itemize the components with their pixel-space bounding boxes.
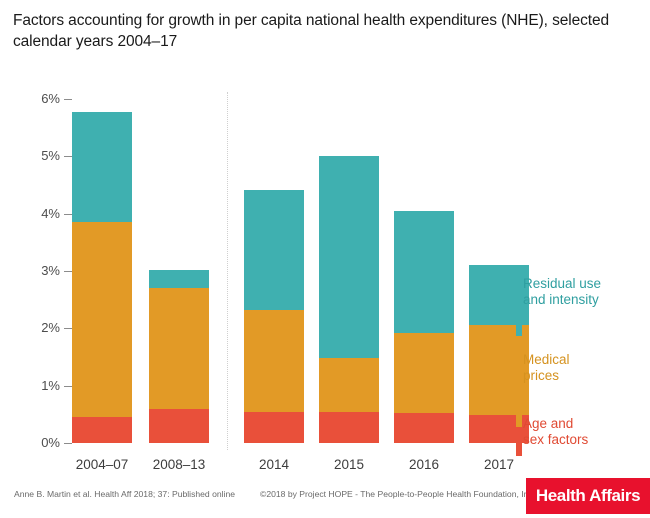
legend-color-swatch (516, 337, 522, 427)
y-axis-tick-label: 2% (14, 321, 60, 334)
bar-segment[interactable] (244, 310, 304, 412)
legend-color-ribbon (516, 0, 522, 478)
legend-label-residual-line1: Residual use (523, 276, 601, 292)
bar-segment[interactable] (319, 156, 379, 358)
bar-stack (244, 99, 304, 443)
period-separator (227, 92, 228, 450)
legend-color-swatch (516, 428, 522, 456)
health-affairs-logo[interactable]: Health Affairs (526, 478, 650, 514)
y-axis-tick-label: 0% (14, 436, 60, 449)
bar-segment[interactable] (72, 222, 132, 416)
bar-segment[interactable] (72, 112, 132, 223)
bar-segment[interactable] (149, 270, 209, 288)
y-axis-tick-mark (64, 443, 72, 444)
bar-segment[interactable] (394, 333, 454, 413)
bar-column[interactable] (244, 99, 304, 443)
bar-stack (72, 99, 132, 443)
bar-segment[interactable] (72, 417, 132, 443)
x-axis-tick-label: 2004–07 (58, 457, 146, 472)
y-axis-tick-mark (64, 328, 72, 329)
y-axis-tick-label: 6% (14, 92, 60, 105)
health-affairs-logo-text: Health Affairs (526, 478, 650, 514)
y-axis-tick-label: 3% (14, 264, 60, 277)
bar-segment[interactable] (244, 412, 304, 443)
bar-segment[interactable] (394, 211, 454, 333)
chart-plot-area: 0%1%2%3%4%5%6% 2004–072008–1320142015201… (0, 0, 650, 478)
footer-copyright: ©2018 by Project HOPE - The People-to-Pe… (260, 489, 535, 499)
y-axis-tick-mark (64, 271, 72, 272)
legend-label-medical-line2: prices (523, 368, 570, 384)
legend-label-age-line2: sex factors (523, 432, 588, 448)
legend-label-residual-line2: and intensity (523, 292, 601, 308)
x-axis-tick-label: 2008–13 (135, 457, 223, 472)
y-axis-tick-mark (64, 214, 72, 215)
bar-column[interactable] (319, 99, 379, 443)
legend-color-swatch (516, 276, 522, 336)
legend-label-medical-line1: Medical (523, 352, 570, 368)
bar-segment[interactable] (319, 358, 379, 412)
footer-citation: Anne B. Martin et al. Health Aff 2018; 3… (14, 489, 235, 499)
bar-segment[interactable] (244, 190, 304, 310)
legend-item-age-and-sex-factors: Age and sex factors (523, 416, 588, 448)
y-axis-tick-mark (64, 386, 72, 387)
bar-column[interactable] (394, 99, 454, 443)
y-axis-tick-mark (64, 156, 72, 157)
legend-label-age-line1: Age and (523, 416, 588, 432)
bar-segment[interactable] (149, 409, 209, 443)
bar-stack (319, 99, 379, 443)
legend-item-residual-use-and-intensity: Residual use and intensity (523, 276, 601, 308)
legend-item-medical-prices: Medical prices (523, 352, 570, 384)
bar-segment[interactable] (394, 413, 454, 443)
footer: Anne B. Martin et al. Health Aff 2018; 3… (0, 478, 650, 518)
y-axis-tick-label: 4% (14, 207, 60, 220)
y-axis-tick-label: 5% (14, 149, 60, 162)
bar-column[interactable] (72, 99, 132, 443)
bar-segment[interactable] (319, 412, 379, 443)
x-axis-tick-label: 2017 (455, 457, 543, 472)
y-axis-tick-label: 1% (14, 379, 60, 392)
y-axis-tick-mark (64, 99, 72, 100)
bar-column[interactable] (149, 99, 209, 443)
bar-stack (394, 99, 454, 443)
bar-stack (149, 99, 209, 443)
bar-segment[interactable] (149, 288, 209, 409)
